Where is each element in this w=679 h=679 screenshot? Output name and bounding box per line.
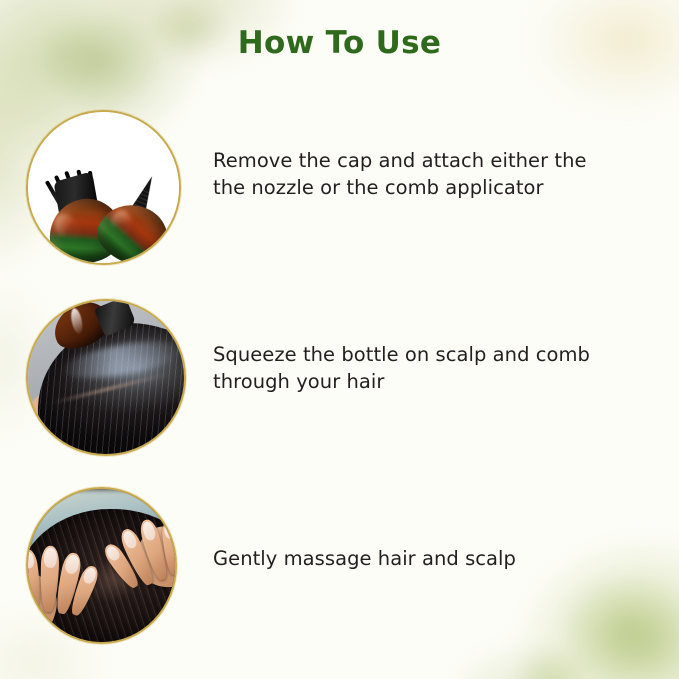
hands-massaging-scalp-image [26,487,177,644]
watercolor-wash-bottom-right-accent [479,509,679,679]
step-3-caption-line-1: Gently massage hair and scalp [213,546,633,573]
step-3-thumbnail-wrap [26,487,177,644]
bottle-on-scalp-image [26,299,186,456]
left-hand-icon [28,543,106,642]
step-1-caption-line-1: Remove the cap and attach either the [213,148,633,175]
step-2-thumbnail-wrap [26,299,186,456]
step-1-caption-line-2: the nozzle or the comb applicator [213,175,633,202]
how-to-use-infographic: How To Use [0,0,679,679]
step-2-caption-line-2: through your hair [213,369,633,396]
applicator-bottles-image [26,110,181,265]
page-title: How To Use [0,25,679,61]
step-1-caption: Remove the cap and attach either the the… [213,148,633,201]
step-1-thumbnail-wrap [26,110,181,265]
step-2-caption: Squeeze the bottle on scalp and comb thr… [213,342,633,395]
step-3-caption: Gently massage hair and scalp [213,546,633,573]
step-2-caption-line-1: Squeeze the bottle on scalp and comb [213,342,633,369]
